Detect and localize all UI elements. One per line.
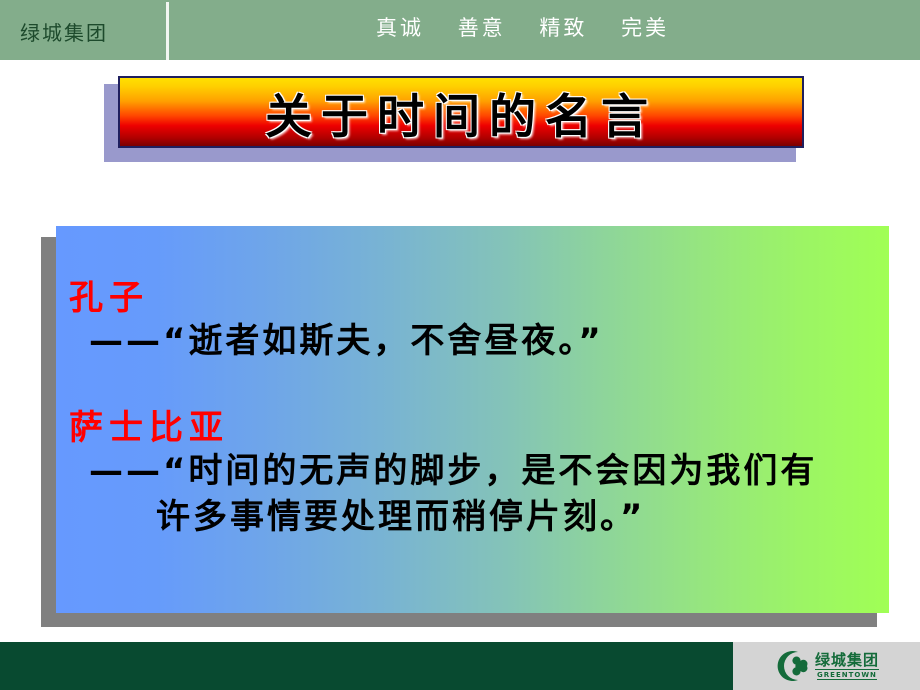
logo-chinese-name: 绿城集团 [815,653,879,670]
logo-wordmark: 绿城集团 GREENTOWN [815,653,879,680]
company-logo: 绿城集团 GREENTOWN [774,649,879,683]
header-divider [166,2,169,60]
content-box: 孔子 ——“逝者如斯夫，不舍昼夜。” 萨士比亚 ——“时间的无声的脚步，是不会因… [56,226,889,613]
quote-line: ——“时间的无声的脚步，是不会因为我们有 [89,448,889,494]
quote-speaker: 孔子 [69,278,889,318]
greentown-crescent-clover-icon [774,649,808,683]
footer-slogan-word: 完美 [621,16,669,40]
title-banner-group: 关于时间的名言 [104,76,804,162]
logo-english-name: GREENTOWN [817,672,877,680]
footer-slogan-word: 善意 [458,16,506,40]
quote-line: ——“逝者如斯夫，不舍昼夜。” [89,318,889,364]
slide-title: 关于时间的名言 [265,78,657,147]
footer-slogan-word: 精致 [539,16,587,40]
header-brand-text: 绿城集团 [20,17,108,46]
title-banner: 关于时间的名言 [118,76,804,148]
footer-slogan-word: 真诚 [376,16,424,40]
footer-slogan: 真诚 善意 精致 完美 [376,12,669,42]
quote-block-shakespeare: 萨士比亚 ——“时间的无声的脚步，是不会因为我们有 许多事情要处理而稍停片刻。” [56,408,889,540]
quote-block-confucius: 孔子 ——“逝者如斯夫，不舍昼夜。” [56,278,889,364]
quote-speaker: 萨士比亚 [69,408,889,448]
quote-line: 许多事情要处理而稍停片刻。” [156,494,889,540]
footer-logo-panel: 绿城集团 GREENTOWN [733,642,920,690]
content-group: 孔子 ——“逝者如斯夫，不舍昼夜。” 萨士比亚 ——“时间的无声的脚步，是不会因… [41,226,891,630]
